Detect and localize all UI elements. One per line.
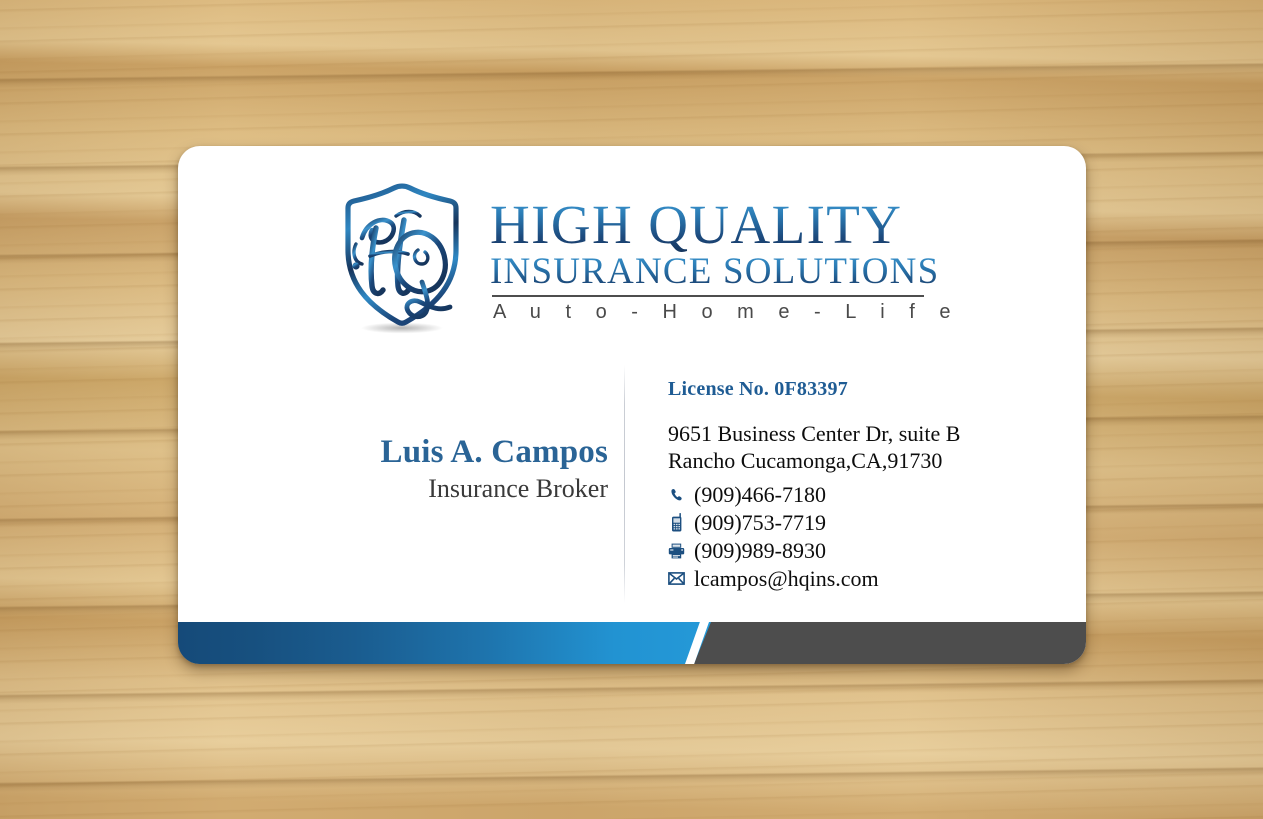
envelope-icon <box>668 569 685 589</box>
business-card: HIGH QUALITY INSURANCE SOLUTIONS A u t o… <box>178 146 1086 664</box>
contact-row-phone[interactable]: (909)466-7180 <box>668 481 1058 509</box>
person-block: Luis A. Campos Insurance Broker <box>208 434 608 504</box>
contact-value-phone: (909)466-7180 <box>694 482 826 508</box>
contact-block: License No. 0F83397 9651 Business Center… <box>668 378 1058 593</box>
shield-hq-monogram-icon <box>326 178 478 338</box>
company-wordmark: HIGH QUALITY INSURANCE SOLUTIONS A u t o… <box>490 192 960 324</box>
wordmark-tagline: A u t o - H o m e - L i f e <box>490 301 960 324</box>
column-divider <box>624 365 625 603</box>
banner-blue-section <box>178 622 711 664</box>
wordmark-line-2: INSURANCE SOLUTIONS <box>490 252 960 292</box>
wordmark-divider-rule <box>492 295 924 297</box>
person-title: Insurance Broker <box>208 475 608 504</box>
wordmark-line-1: HIGH QUALITY <box>490 198 960 252</box>
contact-row-fax[interactable]: (909)989-8930 <box>668 537 1058 565</box>
contact-row-email[interactable]: lcampos@hqins.com <box>668 565 1058 593</box>
mobile-phone-icon <box>668 513 685 533</box>
address-line-1: 9651 Business Center Dr, suite B <box>668 420 1058 447</box>
bottom-banner <box>178 622 1086 664</box>
phone-icon <box>668 485 685 505</box>
address-block: 9651 Business Center Dr, suite B Rancho … <box>668 420 1058 475</box>
contact-value-mobile: (909)753-7719 <box>694 510 826 536</box>
license-number: License No. 0F83397 <box>668 378 1058 401</box>
company-logo: HIGH QUALITY INSURANCE SOLUTIONS A u t o… <box>326 178 960 338</box>
contact-row-mobile[interactable]: (909)753-7719 <box>668 509 1058 537</box>
contact-value-email: lcampos@hqins.com <box>694 566 879 592</box>
contact-list: (909)466-7180 <box>668 481 1058 593</box>
fax-icon <box>668 541 685 561</box>
contact-value-fax: (909)989-8930 <box>694 538 826 564</box>
person-name: Luis A. Campos <box>208 434 608 470</box>
address-line-2: Rancho Cucamonga,CA,91730 <box>668 447 1058 474</box>
